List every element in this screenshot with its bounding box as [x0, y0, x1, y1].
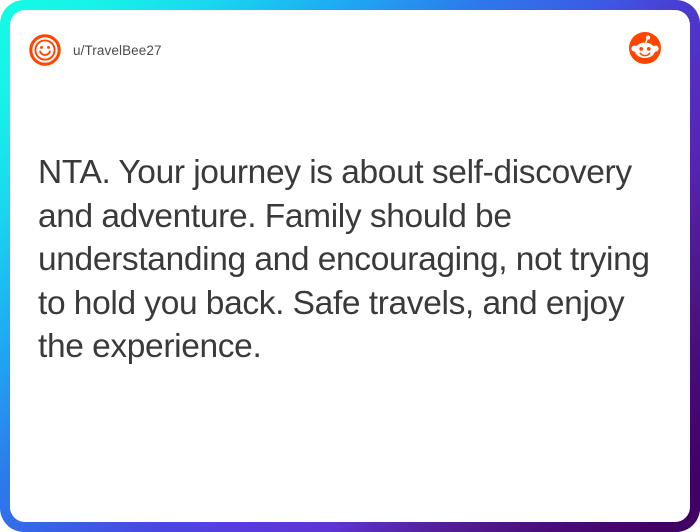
author-block[interactable]: u/TravelBee27: [28, 33, 628, 67]
author-username: u/TravelBee27: [73, 43, 162, 58]
quote-text: NTA. Your journey is about self-discover…: [38, 151, 652, 369]
gradient-border-frame: u/TravelBee27 NTA. Your journey is about…: [0, 0, 700, 532]
quote-card: u/TravelBee27 NTA. Your journey is about…: [10, 10, 690, 522]
smiley-face-icon: [28, 33, 62, 67]
card-header: u/TravelBee27: [10, 10, 690, 95]
reddit-snoo-icon[interactable]: [628, 31, 662, 65]
